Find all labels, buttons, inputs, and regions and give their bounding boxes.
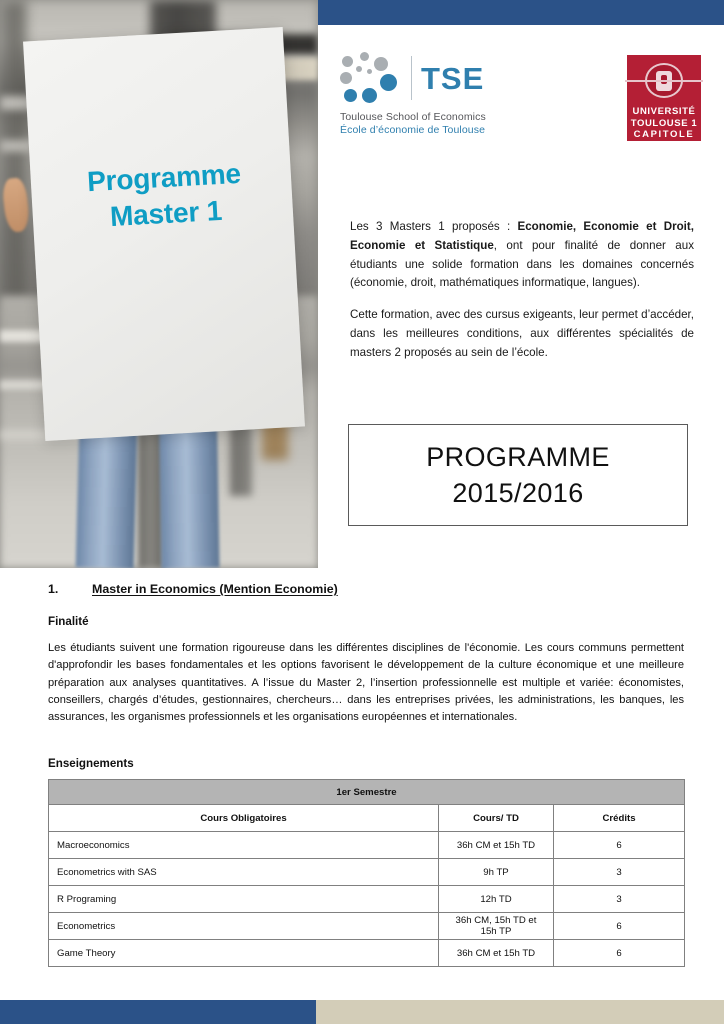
tse-logo-mark-row: TSE [340, 52, 502, 104]
finalite-paragraph: Les étudiants suivent une formation rigo… [48, 640, 684, 726]
footer-beige-bar [316, 1000, 724, 1024]
table-row-columns: Cours Obligatoires Cours/ TD Crédits [49, 805, 685, 832]
tse-dots-icon [340, 52, 402, 104]
poster-text: Programme Master 1 [32, 153, 298, 239]
cell-course-name: Econometrics with SAS [49, 859, 439, 886]
cell-course-name: Game Theory [49, 940, 439, 967]
university-line-1: UNIVERSITÉ [631, 106, 698, 118]
tse-subtitle-en: Toulouse School of Economics [340, 111, 502, 123]
programme-box-line-1: PROGRAMME [426, 439, 610, 475]
cell-course-hours: 12h TD [439, 886, 554, 913]
section-number: 1. [48, 582, 92, 596]
cell-course-hours: 36h CM, 15h TD et 15h TP [439, 913, 554, 940]
column-header-course: Cours Obligatoires [49, 805, 439, 832]
cell-course-hours: 36h CM et 15h TD [439, 940, 554, 967]
cell-course-hours: 9h TP [439, 859, 554, 886]
finalite-heading: Finalité [48, 615, 684, 628]
table-row: R Programing 12h TD 3 [49, 886, 685, 913]
column-header-credits: Crédits [554, 805, 685, 832]
cell-course-credits: 3 [554, 859, 685, 886]
section-heading-row: 1.Master in Economics (Mention Economie) [48, 580, 684, 598]
document-page: Programme Master 1 TSE Toulouse School o… [0, 0, 724, 1024]
table-row-semester: 1er Semestre [49, 780, 685, 805]
programme-box-line-2: 2015/2016 [452, 475, 583, 511]
cell-course-credits: 6 [554, 940, 685, 967]
section-title: Master in Economics (Mention Economie) [92, 582, 338, 596]
university-line-2: TOULOUSE 1 [631, 118, 698, 130]
programme-year-box: PROGRAMME 2015/2016 [348, 424, 688, 526]
cell-course-credits: 6 [554, 913, 685, 940]
cell-course-hours: 36h CM et 15h TD [439, 832, 554, 859]
university-line-3: CAPITOLE [631, 129, 698, 141]
column-header-hours: Cours/ TD [439, 805, 554, 832]
section-master-in-economics: 1.Master in Economics (Mention Economie)… [48, 580, 684, 726]
tse-logo: TSE Toulouse School of Economics École d… [340, 52, 502, 148]
intro-paragraph-2: Cette formation, avec des cursus exigean… [350, 306, 694, 362]
cell-course-name: R Programing [49, 886, 439, 913]
university-crest-inner-icon [656, 71, 672, 91]
university-crest-icon [645, 63, 683, 98]
tse-subtitle-fr: École d’économie de Toulouse [340, 124, 502, 136]
footer-blue-bar [0, 1000, 316, 1024]
cell-course-credits: 6 [554, 832, 685, 859]
cell-course-name: Econometrics [49, 913, 439, 940]
tse-divider [411, 56, 412, 100]
intro-paragraph-1: Les 3 Masters 1 proposés : Economie, Eco… [350, 218, 694, 293]
intro-text-block: Les 3 Masters 1 proposés : Economie, Eco… [350, 218, 694, 375]
enseignements-heading: Enseignements [48, 757, 134, 770]
cover-photo: Programme Master 1 [0, 0, 318, 568]
university-logo-text: UNIVERSITÉ TOULOUSE 1 CAPITOLE [631, 106, 698, 141]
top-blue-banner [318, 0, 724, 25]
intro-p1-prefix: Les 3 Masters 1 proposés : [350, 220, 518, 233]
cell-course-name: Macroeconomics [49, 832, 439, 859]
universite-toulouse-1-capitole-logo: UNIVERSITÉ TOULOUSE 1 CAPITOLE [627, 55, 701, 141]
tse-acronym: TSE [421, 63, 484, 94]
table-row: Econometrics 36h CM, 15h TD et 15h TP 6 [49, 913, 685, 940]
table-row: Macroeconomics 36h CM et 15h TD 6 [49, 832, 685, 859]
semester-header: 1er Semestre [49, 780, 685, 805]
cell-course-credits: 3 [554, 886, 685, 913]
table-row: Game Theory 36h CM et 15h TD 6 [49, 940, 685, 967]
table-row: Econometrics with SAS 9h TP 3 [49, 859, 685, 886]
courses-table: 1er Semestre Cours Obligatoires Cours/ T… [48, 779, 685, 967]
